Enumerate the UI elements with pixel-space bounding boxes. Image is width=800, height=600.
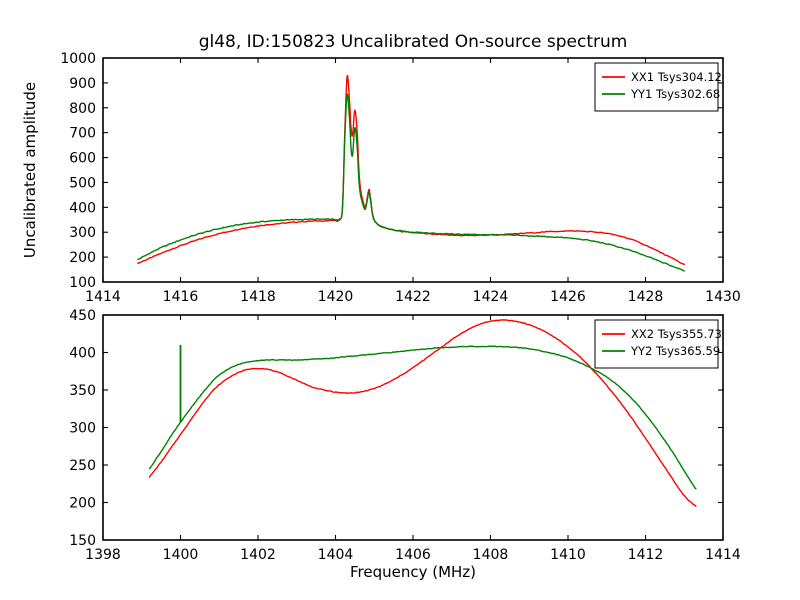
y-tick-label: 900 [69, 76, 96, 92]
y-tick-label: 200 [69, 496, 96, 512]
x-tick-label: 1414 [85, 289, 121, 305]
x-tick-label: 1416 [163, 289, 199, 305]
y-tick-label: 250 [69, 458, 96, 474]
y-tick-label: 800 [69, 101, 96, 117]
x-tick-label: 1424 [473, 289, 509, 305]
x-tick-label: 1428 [628, 289, 664, 305]
legend-label: XX1 Tsys304.12 [631, 70, 722, 84]
x-tick-label: 1406 [395, 547, 431, 563]
x-axis-label: Frequency (MHz) [350, 563, 476, 581]
y-tick-label: 400 [69, 200, 96, 216]
page-title: gl48, ID:150823 Uncalibrated On-source s… [199, 32, 628, 52]
y-tick-label: 100 [69, 275, 96, 291]
x-tick-label: 1430 [705, 289, 741, 305]
x-tick-label: 1412 [628, 547, 664, 563]
y-tick-label: 300 [69, 225, 96, 241]
spectrum-figure: gl48, ID:150823 Uncalibrated On-source s… [0, 0, 800, 600]
x-tick-label: 1420 [318, 289, 354, 305]
figure-canvas: gl48, ID:150823 Uncalibrated On-source s… [0, 0, 800, 600]
x-tick-label: 1426 [550, 289, 586, 305]
x-tick-label: 1400 [163, 547, 199, 563]
x-tick-label: 1418 [240, 289, 276, 305]
y-tick-label: 400 [69, 346, 96, 362]
y-tick-label: 150 [69, 533, 96, 549]
x-tick-label: 1402 [240, 547, 276, 563]
y-tick-label: 350 [69, 383, 96, 399]
y-tick-label: 700 [69, 126, 96, 142]
y-tick-label: 300 [69, 421, 96, 437]
y-tick-label: 600 [69, 151, 96, 167]
x-tick-label: 1414 [705, 547, 741, 563]
x-tick-label: 1404 [318, 547, 354, 563]
x-tick-label: 1398 [85, 547, 121, 563]
top-panel-legend[interactable]: XX1 Tsys304.12YY1 Tsys302.68 [595, 63, 722, 111]
legend-label: YY2 Tsys365.59 [630, 344, 720, 358]
y-tick-label: 450 [69, 308, 96, 324]
y-tick-label: 500 [69, 175, 96, 191]
legend-label: XX2 Tsys355.73 [631, 327, 722, 341]
x-tick-label: 1422 [395, 289, 431, 305]
y-tick-label: 200 [69, 250, 96, 266]
y-axis-label: Uncalibrated amplitude [21, 82, 39, 258]
x-tick-label: 1410 [550, 547, 586, 563]
x-tick-label: 1408 [473, 547, 509, 563]
legend-label: YY1 Tsys302.68 [630, 87, 720, 101]
bottom-panel-legend[interactable]: XX2 Tsys355.73YY2 Tsys365.59 [595, 320, 722, 368]
y-tick-label: 1000 [60, 51, 96, 67]
